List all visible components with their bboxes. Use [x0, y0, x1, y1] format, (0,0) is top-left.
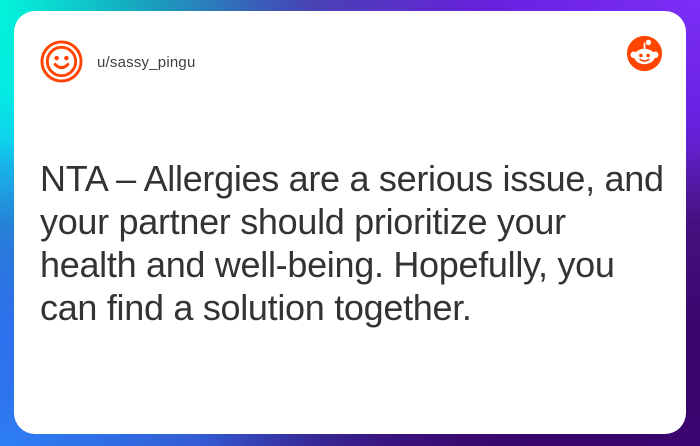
post-card: u/sassy_pingu NTA – Allergies — [14, 11, 686, 434]
smiley-face-avatar-icon[interactable] — [40, 40, 83, 83]
reddit-snoo-icon[interactable] — [626, 35, 663, 72]
post-text-line: can find a solution together. — [40, 286, 660, 329]
post-text-line: your partner should prioritize your — [40, 200, 660, 243]
post-header: u/sassy_pingu — [14, 11, 686, 107]
post-text-body: NTA – Allergies are a serious issue, and… — [40, 157, 660, 329]
username-label[interactable]: u/sassy_pingu — [97, 53, 196, 73]
post-text-line: health and well-being. Hopefully, you — [40, 243, 660, 286]
post-text-line: NTA – Allergies are a serious issue, and — [40, 157, 660, 200]
